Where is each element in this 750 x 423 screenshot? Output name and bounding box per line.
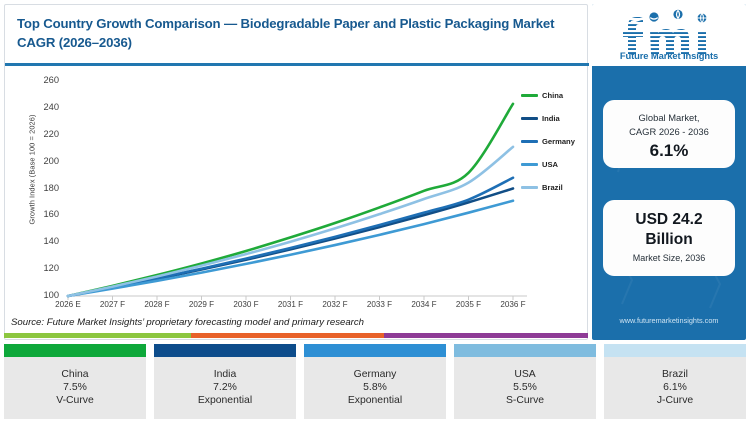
legend-label: India (542, 114, 560, 123)
legend-swatch-icon (521, 186, 538, 189)
legend-item-brazil[interactable]: Brazil (521, 176, 589, 199)
global-cagr-value: 6.1% (603, 141, 735, 161)
country-card-curve-type: J-Curve (657, 395, 693, 406)
line-chart: Growth Index (Base 100 = 2026) 100120140… (5, 67, 589, 312)
country-card-name: China (61, 369, 88, 380)
source-note: Source: Future Market Insights’ propriet… (11, 317, 364, 328)
country-card-color-bar (454, 344, 596, 357)
legend-label: Germany (542, 137, 575, 146)
market-size-value-line1: USD 24.2 (603, 210, 735, 230)
country-card-curve-type: Exponential (348, 395, 402, 406)
country-card-body: Brazil6.1%J-Curve (604, 357, 746, 419)
accent-segment-purple (384, 333, 588, 338)
legend-swatch-icon (521, 94, 538, 97)
title-block: Top Country Growth Comparison — Biodegra… (5, 5, 587, 60)
market-size-value-line2: Billion (603, 230, 735, 250)
page-title: Top Country Growth Comparison — Biodegra… (17, 14, 573, 52)
series-line-brazil (68, 147, 513, 296)
legend-item-china[interactable]: China (521, 84, 589, 107)
country-card-curve-type: V-Curve (56, 395, 94, 406)
accent-segment-orange (191, 333, 384, 338)
title-divider (5, 63, 589, 66)
legend-swatch-icon (521, 117, 538, 120)
legend-label: China (542, 91, 563, 100)
fmi-logo-mark (592, 6, 746, 54)
country-card-india[interactable]: India7.2%Exponential (154, 344, 296, 419)
legend-label: USA (542, 160, 558, 169)
global-cagr-card: Global Market, CAGR 2026 - 2036 6.1% (603, 100, 735, 168)
global-cagr-line1: Global Market, (603, 111, 735, 125)
legend-item-usa[interactable]: USA (521, 153, 589, 176)
country-card-name: Germany (354, 369, 397, 380)
country-card-brazil[interactable]: Brazil6.1%J-Curve (604, 344, 746, 419)
brand-subtitle: Future Market Insights (592, 50, 746, 61)
country-card-china[interactable]: China7.5%V-Curve (4, 344, 146, 419)
country-card-cagr: 7.2% (213, 382, 237, 393)
legend-swatch-icon (521, 163, 538, 166)
country-card-usa[interactable]: USA5.5%S-Curve (454, 344, 596, 419)
country-card-cagr: 6.1% (663, 382, 687, 393)
fmi-logo: Future Market Insights (592, 6, 746, 66)
accent-segment-green (4, 333, 191, 338)
country-card-body: China7.5%V-Curve (4, 357, 146, 419)
legend-item-germany[interactable]: Germany (521, 130, 589, 153)
country-card-body: USA5.5%S-Curve (454, 357, 596, 419)
website-url: www.futuremarketinsights.com (592, 316, 746, 325)
country-card-name: USA (514, 369, 535, 380)
accent-bar (4, 333, 588, 338)
brand-sidebar: Future Market Insights Global Market, CA… (592, 4, 746, 340)
country-card-body: India7.2%Exponential (154, 357, 296, 419)
global-cagr-line2: CAGR 2026 - 2036 (603, 125, 735, 139)
infographic-root: Top Country Growth Comparison — Biodegra… (0, 0, 750, 423)
country-cards-row: China7.5%V-CurveIndia7.2%ExponentialGerm… (4, 344, 746, 419)
market-size-caption: Market Size, 2036 (603, 253, 735, 263)
country-card-cagr: 5.8% (363, 382, 387, 393)
chart-legend: ChinaIndiaGermanyUSABrazil (521, 84, 589, 199)
country-card-name: Brazil (662, 369, 688, 380)
country-card-cagr: 5.5% (513, 382, 537, 393)
country-card-color-bar (304, 344, 446, 357)
country-card-color-bar (604, 344, 746, 357)
country-card-curve-type: Exponential (198, 395, 252, 406)
country-card-name: India (214, 369, 237, 380)
country-card-germany[interactable]: Germany5.8%Exponential (304, 344, 446, 419)
country-card-cagr: 7.5% (63, 382, 87, 393)
legend-label: Brazil (542, 183, 563, 192)
series-line-china (68, 104, 513, 296)
legend-item-india[interactable]: India (521, 107, 589, 130)
country-card-color-bar (154, 344, 296, 357)
plot-svg (5, 67, 589, 312)
country-card-body: Germany5.8%Exponential (304, 357, 446, 419)
market-size-card: USD 24.2 Billion Market Size, 2036 (603, 200, 735, 276)
country-card-curve-type: S-Curve (506, 395, 544, 406)
legend-swatch-icon (521, 140, 538, 143)
country-card-color-bar (4, 344, 146, 357)
chart-panel: Top Country Growth Comparison — Biodegra… (4, 4, 588, 340)
